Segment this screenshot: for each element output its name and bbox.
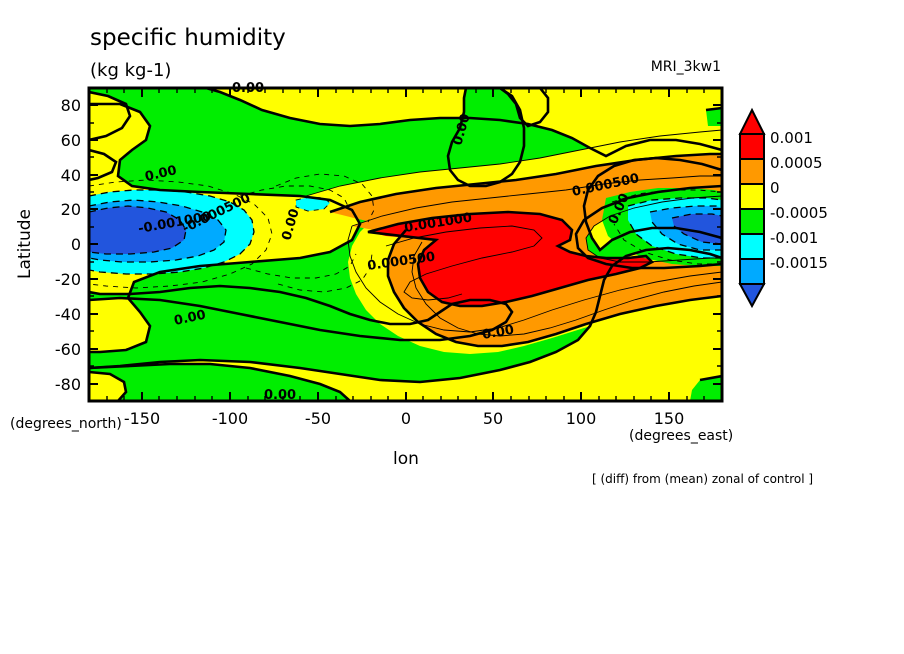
y-tick-label-5: -20 [55, 270, 81, 289]
y-tick-label-2: 40 [61, 166, 81, 185]
contour-label-8: 0.00 [264, 388, 296, 403]
x-tick-label-2: -50 [305, 409, 331, 428]
y-tick-label-6: -40 [55, 305, 81, 324]
x-tick-label-4: 50 [483, 409, 503, 428]
left-corner-label: (degrees_north) [10, 416, 122, 432]
y-tick-label-1: 60 [61, 131, 81, 150]
y-axis-title: Latitude [15, 209, 35, 279]
y-tick-label-4: 0 [71, 235, 81, 254]
right-corner-label: (degrees_east) [629, 428, 733, 444]
y-tick-label-8: -80 [55, 375, 81, 394]
colorbar-cell-red [740, 134, 764, 159]
footer-caption: [ (diff) from (mean) zonal of control ] [592, 472, 813, 486]
y-tick-label-0: 80 [61, 96, 81, 115]
colorbar-cell-cyan [740, 234, 764, 259]
plot-area [89, 88, 722, 401]
x-tick-label-5: 100 [566, 409, 597, 428]
colorbar-cell-lightblue [740, 259, 764, 284]
figure-canvas: specific humidity (kg kg-1) MRI_3kw1 [0, 0, 904, 654]
contour-fill-layer [89, 88, 722, 401]
colorbar-label-4: -0.001 [770, 229, 818, 247]
colorbar-label-5: -0.0015 [770, 254, 828, 272]
colorbar-label-0: 0.001 [770, 129, 813, 147]
contour-label-5: 0.00 [232, 81, 264, 96]
colorbar-label-3: -0.0005 [770, 204, 828, 222]
colorbar-cell-green [740, 209, 764, 234]
x-tick-label-6: 150 [654, 409, 685, 428]
page-title: specific humidity [90, 25, 286, 51]
units-label: (kg kg-1) [90, 60, 171, 81]
x-tick-label-1: -100 [212, 409, 248, 428]
y-tick-label-7: -60 [55, 340, 81, 359]
colorbar-label-1: 0.0005 [770, 154, 823, 172]
y-tick-label-3: 20 [61, 200, 81, 219]
colorbar-cell-orange [740, 159, 764, 184]
x-tick-label-0: -150 [124, 409, 160, 428]
model-label: MRI_3kw1 [651, 59, 721, 75]
colorbar-cell-yellow [740, 184, 764, 209]
x-tick-label-3: 0 [401, 409, 411, 428]
x-axis-title: lon [393, 449, 419, 469]
figure-svg: specific humidity (kg kg-1) MRI_3kw1 [0, 0, 904, 654]
colorbar-label-2: 0 [770, 179, 780, 197]
